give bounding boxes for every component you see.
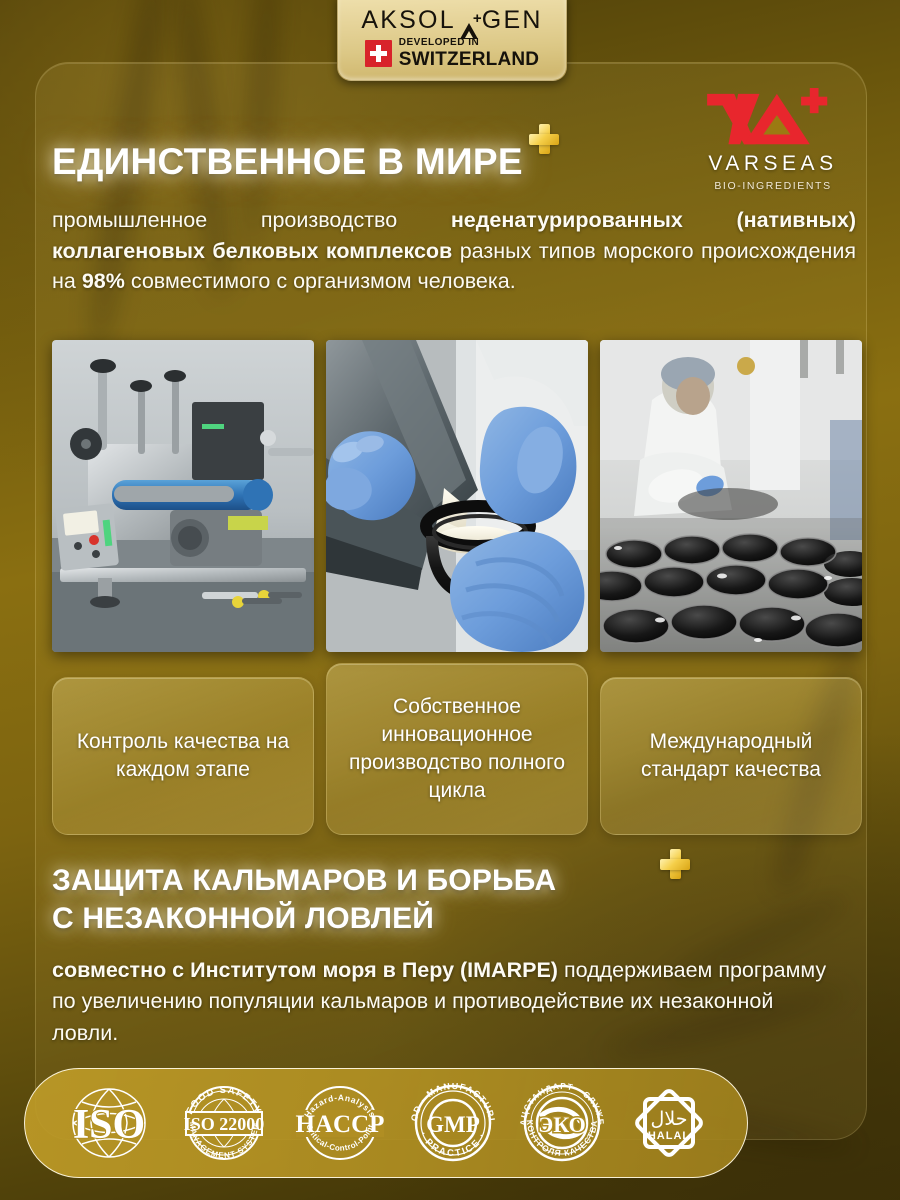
developed-in-label: DEVELOPED IN <box>399 38 539 48</box>
svg-text:GMP: GMP <box>426 1112 480 1137</box>
lead-part-1: промышленное производство <box>52 208 451 232</box>
aksolagen-wordmark: AKSOL + GEN <box>361 8 542 33</box>
packaging-line-photo <box>600 340 862 652</box>
iso-22000-seal-icon: ISO 22000 FOOD SAFETY MANAGEMENT SYSTEM <box>177 1084 271 1162</box>
certification-bar: ISO ISO 22000 FOOD <box>24 1068 748 1178</box>
switzerland-label: SWITZERLAND <box>399 50 539 69</box>
labeling-machine-photo <box>52 340 314 652</box>
aksolagen-name-head: AKSOL <box>361 8 455 33</box>
lead2-bold-1: совместно с Институтом моря в Перу (IMAR… <box>52 958 558 982</box>
halal-star-icon: حلال HALAL <box>627 1081 711 1165</box>
feature-card-international-standard: Международный стандарт качества <box>600 677 862 835</box>
swiss-flag-icon <box>365 40 392 67</box>
poster-root: AKSOL + GEN DEVELOPED IN SWITZERLAND <box>0 0 900 1200</box>
svg-text:ЭКО: ЭКО <box>538 1112 585 1137</box>
gold-plus-icon <box>529 124 559 154</box>
aksolagen-logo-badge: AKSOL + GEN DEVELOPED IN SWITZERLAND <box>337 0 567 81</box>
lead-part-3: совместимого с организмом человека. <box>125 269 516 293</box>
feature-card-own-production: Собственное инновационное производство п… <box>326 663 588 835</box>
varseas-va-plus-icon <box>688 88 858 150</box>
aksolagen-plus-icon: + <box>473 11 484 26</box>
varseas-name: VARSEAS <box>688 152 858 176</box>
section-two-paragraph: совместно с Институтом моря в Перу (IMAR… <box>52 955 842 1049</box>
svg-text:HALAL: HALAL <box>647 1130 689 1142</box>
haccp-seal-icon: HACCP Hazard-Analysis Critical-Control-P… <box>292 1084 388 1162</box>
gmp-seal-icon: GMP GOOD · MANUFACTURING · PRACTICE · <box>409 1083 497 1163</box>
section-one-heading: ЕДИНСТВЕННОЕ В МИРЕ <box>52 143 559 182</box>
developed-in-switzerland: DEVELOPED IN SWITZERLAND <box>365 38 539 69</box>
iso-globe-icon: ISO <box>62 1086 156 1160</box>
eco-seal-icon: ЭКО НАЦСТАНДАРТ · СЛУЖБА КОНТРОЛЯ КАЧЕСТ… <box>518 1083 606 1163</box>
svg-text:ISO: ISO <box>72 1102 144 1148</box>
section-two-heading: ЗАЩИТА КАЛЬМАРОВ И БОРЬБА С НЕЗАКОННОЙ Л… <box>52 862 556 938</box>
feature-card-list: Контроль качества на каждом этапе Собств… <box>52 677 862 835</box>
section-two-heading-line-2: С НЕЗАКОННОЙ ЛОВЛЕЙ <box>52 900 556 938</box>
section-one-heading-text: ЕДИНСТВЕННОЕ В МИРЕ <box>52 141 523 182</box>
section-one-paragraph: промышленное производство неденатурирова… <box>52 205 856 297</box>
gold-plus-icon <box>660 849 690 879</box>
lead-bold-2: 98% <box>82 269 125 293</box>
powder-filling-photo <box>326 340 588 652</box>
section-two-heading-line-1: ЗАЩИТА КАЛЬМАРОВ И БОРЬБА <box>52 862 556 900</box>
varseas-tagline: BIO-INGREDIENTS <box>688 180 858 192</box>
aksolagen-name-tail: GEN <box>482 8 543 33</box>
svg-text:حلال: حلال <box>650 1108 687 1130</box>
feature-card-quality-control: Контроль качества на каждом этапе <box>52 677 314 835</box>
photo-strip <box>52 340 862 652</box>
varseas-logo: VARSEAS BIO-INGREDIENTS <box>688 88 858 192</box>
